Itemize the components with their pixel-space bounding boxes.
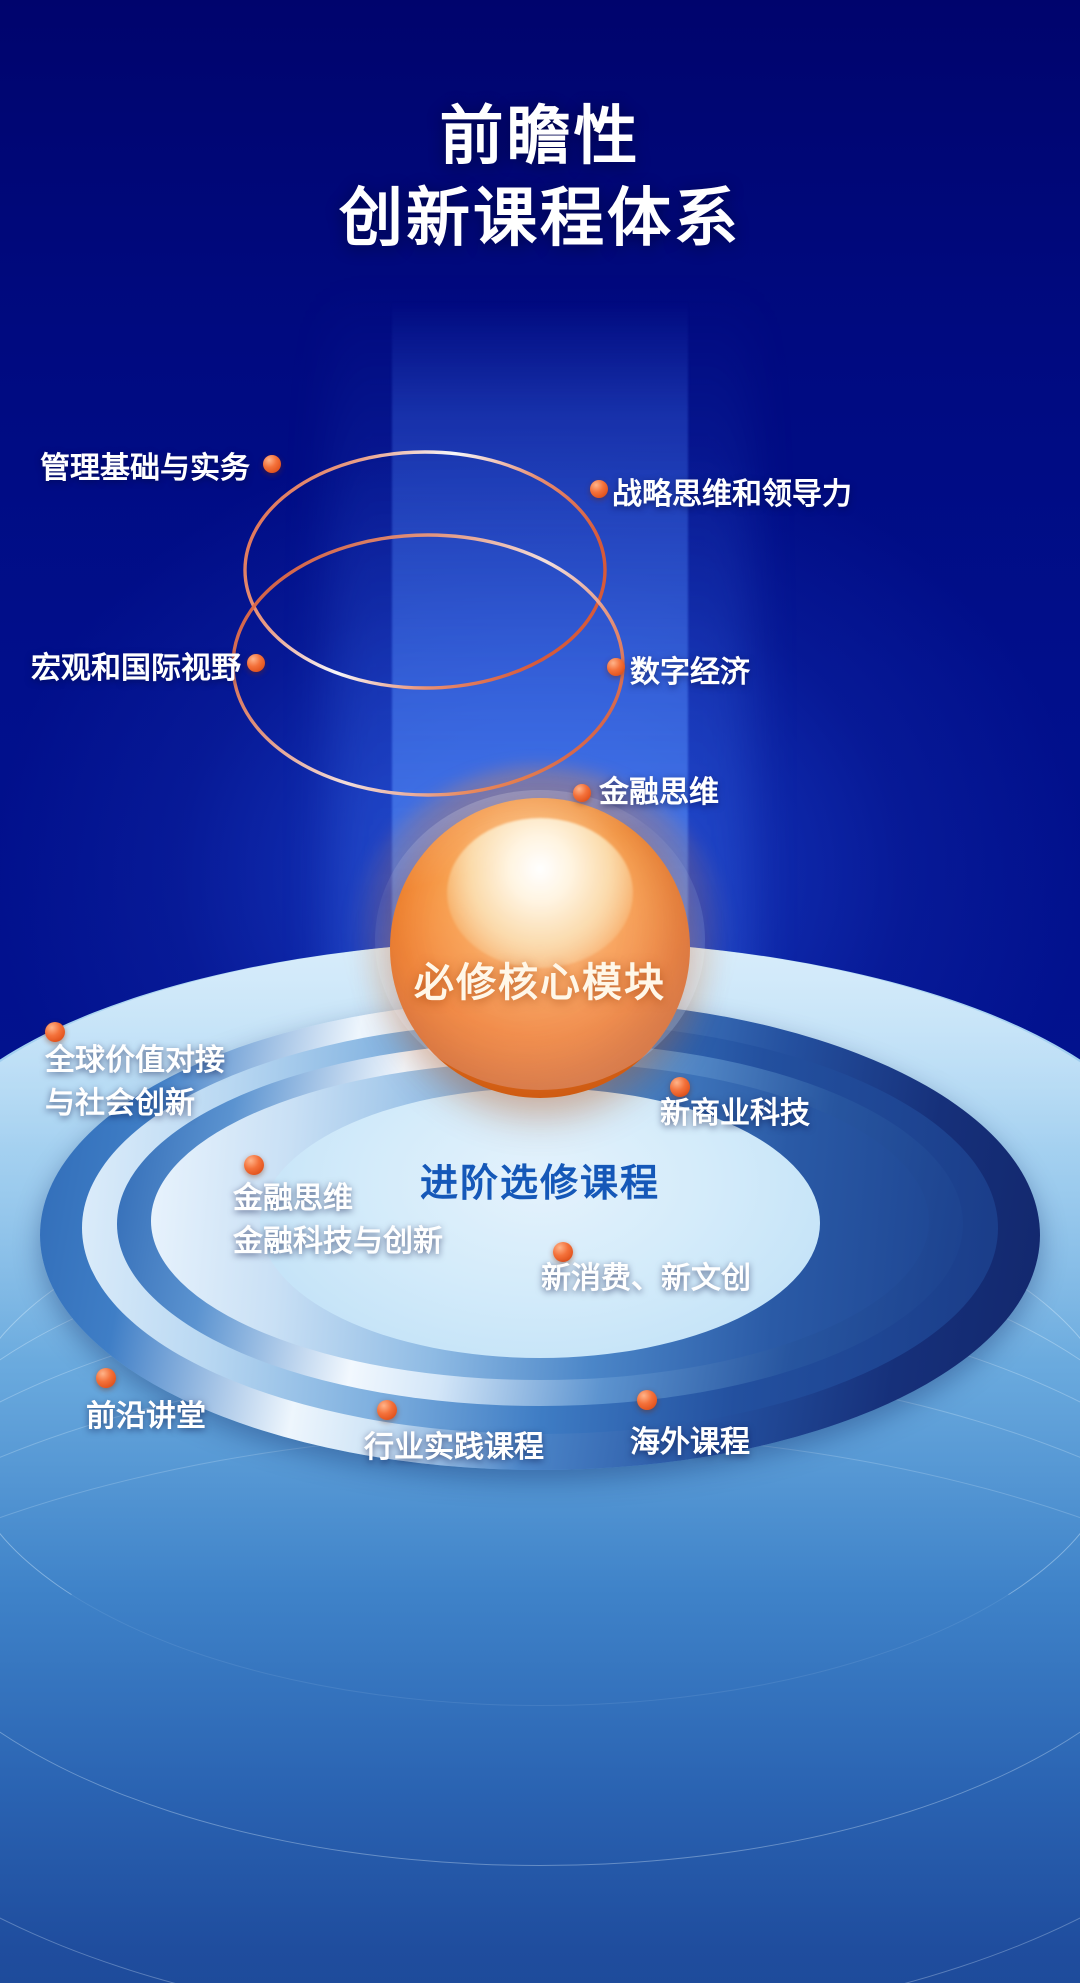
label-line: 金融思维 bbox=[599, 772, 719, 815]
elective-module-label-global-value[interactable]: 全球价值对接与社会创新 bbox=[45, 1040, 225, 1125]
label-line: 金融思维 bbox=[233, 1178, 443, 1221]
label-line: 宏观和国际视野 bbox=[31, 648, 241, 691]
label-line: 管理基础与实务 bbox=[40, 448, 250, 491]
elective-module-dot-industry-prac[interactable] bbox=[377, 1400, 397, 1420]
core-module-dot-strategy[interactable] bbox=[590, 480, 608, 498]
elective-module-label-new-biz-tech[interactable]: 新商业科技 bbox=[660, 1093, 810, 1136]
label-line: 全球价值对接 bbox=[45, 1040, 225, 1083]
core-module-label-macro-global[interactable]: 宏观和国际视野 bbox=[31, 648, 241, 691]
core-module-dot-mgmt-basics[interactable] bbox=[263, 455, 281, 473]
elective-module-dot-global-value[interactable] bbox=[45, 1022, 65, 1042]
label-line: 行业实践课程 bbox=[364, 1427, 544, 1470]
label-line: 与社会创新 bbox=[45, 1083, 225, 1126]
label-line: 数字经济 bbox=[630, 652, 750, 695]
core-module-label-mgmt-basics[interactable]: 管理基础与实务 bbox=[40, 448, 250, 491]
elective-module-label-new-consume[interactable]: 新消费、新文创 bbox=[541, 1258, 751, 1301]
elective-module-dot-frontier-forum[interactable] bbox=[96, 1368, 116, 1388]
core-module-label-strategy[interactable]: 战略思维和领导力 bbox=[612, 474, 852, 517]
core-module-dot-macro-global[interactable] bbox=[247, 654, 265, 672]
label-line: 前沿讲堂 bbox=[86, 1396, 206, 1439]
label-line: 金融科技与创新 bbox=[233, 1221, 443, 1264]
elective-module-dot-overseas[interactable] bbox=[637, 1390, 657, 1410]
title-line-2: 创新课程体系 bbox=[0, 178, 1080, 260]
core-module-label-digital-econ[interactable]: 数字经济 bbox=[630, 652, 750, 695]
page-title: 前瞻性 创新课程体系 bbox=[0, 96, 1080, 260]
label-line: 战略思维和领导力 bbox=[612, 474, 852, 517]
orbit-ring-lower bbox=[233, 535, 623, 795]
infographic-poster: 前瞻性 创新课程体系 必修核心模块 进阶选修课程 管理基础与实务战略思维和领导力… bbox=[0, 0, 1080, 1983]
elective-module-label-fintech[interactable]: 金融思维金融科技与创新 bbox=[233, 1178, 443, 1263]
label-line: 新消费、新文创 bbox=[541, 1258, 751, 1301]
core-sphere-label: 必修核心模块 bbox=[330, 950, 750, 1008]
label-line: 海外课程 bbox=[630, 1422, 750, 1465]
elective-module-label-frontier-forum[interactable]: 前沿讲堂 bbox=[86, 1396, 206, 1439]
label-line: 新商业科技 bbox=[660, 1093, 810, 1136]
core-module-label-fin-thinking[interactable]: 金融思维 bbox=[599, 772, 719, 815]
elective-module-label-industry-prac[interactable]: 行业实践课程 bbox=[364, 1427, 544, 1470]
orbit-ring-upper bbox=[245, 452, 605, 688]
elective-module-label-overseas[interactable]: 海外课程 bbox=[630, 1422, 750, 1465]
title-line-1: 前瞻性 bbox=[440, 100, 641, 172]
elective-module-dot-fintech[interactable] bbox=[244, 1155, 264, 1175]
core-module-dot-digital-econ[interactable] bbox=[607, 658, 625, 676]
core-module-dot-fin-thinking[interactable] bbox=[573, 784, 591, 802]
core-sphere-glass-overlay bbox=[375, 790, 705, 1090]
